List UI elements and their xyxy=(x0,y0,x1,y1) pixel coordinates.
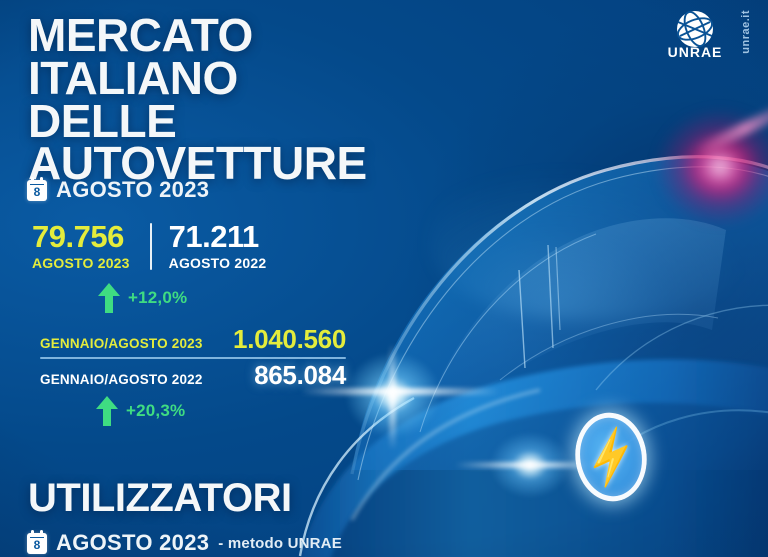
cumulative-block: GENNAIO/AGOSTO 2023 1.040.560 GENNAIO/AG… xyxy=(40,326,346,391)
title-line-3: DELLE xyxy=(28,100,367,143)
calendar-tab-left xyxy=(31,530,34,535)
cumulative-change-value: +20,3% xyxy=(126,401,185,421)
arrow-up-icon xyxy=(96,396,118,426)
section-title-utilizzatori: UTILIZZATORI xyxy=(28,478,292,518)
calendar-day-number: 8 xyxy=(34,539,41,554)
month-previous-value: 71.211 xyxy=(169,221,267,252)
header-date-row: 8 AGOSTO 2023 xyxy=(27,177,209,203)
footer-method-note: - metodo UNRAE xyxy=(218,535,342,552)
month-comparison-block: 79.756 AGOSTO 2023 71.211 AGOSTO 2022 xyxy=(32,221,266,271)
title-line-2: ITALIANO xyxy=(28,57,367,100)
footer-date-row: 8 AGOSTO 2023 - metodo UNRAE xyxy=(27,530,342,556)
infographic-canvas: ⚡ MERCATO ITALIANO DELLE AUTOVETTURE 8 A… xyxy=(0,0,768,557)
footer-date-label: AGOSTO 2023 xyxy=(56,530,209,556)
calendar-tab-right xyxy=(40,530,43,535)
calendar-day-number: 8 xyxy=(34,186,41,201)
cumulative-separator xyxy=(40,357,346,359)
month-current-label: AGOSTO 2023 xyxy=(32,255,130,271)
arrow-up-icon xyxy=(98,283,120,313)
month-change-row: +12,0% xyxy=(98,283,187,313)
unrae-logo[interactable]: UNRAE unrae.it xyxy=(658,6,754,68)
calendar-icon: 8 xyxy=(27,533,47,554)
calendar-tab-left xyxy=(31,177,34,182)
calendar-icon: 8 xyxy=(27,180,47,201)
cumulative-label-2023: GENNAIO/AGOSTO 2023 xyxy=(40,336,203,351)
month-current-value: 79.756 xyxy=(32,221,130,252)
cumulative-change-row: +20,3% xyxy=(96,396,185,426)
month-previous: 71.211 AGOSTO 2022 xyxy=(169,221,267,271)
unrae-logo-url: unrae.it xyxy=(740,10,752,54)
month-divider xyxy=(150,223,152,270)
cumulative-value-2023: 1.040.560 xyxy=(233,326,346,352)
title-line-1: MERCATO xyxy=(28,14,367,57)
table-row: GENNAIO/AGOSTO 2023 1.040.560 xyxy=(40,326,346,355)
month-current: 79.756 AGOSTO 2023 xyxy=(32,221,130,271)
unrae-logo-text: UNRAE xyxy=(664,44,726,60)
cumulative-value-2022: 865.084 xyxy=(254,362,346,388)
calendar-tab-right xyxy=(40,177,43,182)
table-row: GENNAIO/AGOSTO 2022 865.084 xyxy=(40,362,346,391)
month-previous-label: AGOSTO 2022 xyxy=(169,255,267,271)
cumulative-label-2022: GENNAIO/AGOSTO 2022 xyxy=(40,372,203,387)
month-change-value: +12,0% xyxy=(128,288,187,308)
page-title: MERCATO ITALIANO DELLE AUTOVETTURE xyxy=(28,14,367,185)
content-layer: MERCATO ITALIANO DELLE AUTOVETTURE 8 AGO… xyxy=(0,0,768,557)
header-date-label: AGOSTO 2023 xyxy=(56,177,209,203)
